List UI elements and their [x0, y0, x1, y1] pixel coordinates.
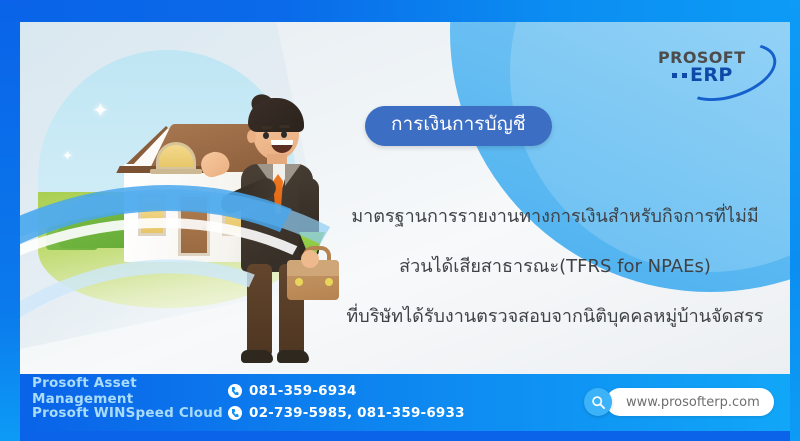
phone-icon	[228, 406, 242, 420]
headline-text: มาตรฐานการรายงานทางการเงินสำหรับกิจการที…	[320, 192, 790, 342]
search-button[interactable]	[584, 388, 612, 416]
eye-left	[263, 132, 269, 139]
contact-list: Prosoft Asset Management 081-359-6934 Pr…	[32, 380, 465, 424]
eyebrow-left	[261, 126, 272, 129]
contact-phone-number: 081-359-6934	[249, 383, 357, 399]
search-icon	[591, 395, 606, 410]
teeth	[271, 140, 293, 145]
logo-dot-icon	[682, 73, 687, 78]
headline-line-1: มาตรฐานการรายงานทางการเงินสำหรับกิจการที…	[320, 192, 790, 242]
contact-product-name: Prosoft Asset Management	[32, 375, 228, 407]
contact-row: Prosoft Asset Management 081-359-6934	[32, 380, 465, 402]
contact-row: Prosoft WINSpeed Cloud 02-739-5985, 081-…	[32, 402, 465, 424]
eye-right	[281, 131, 287, 138]
headline-line-2: ส่วนได้เสียสาธารณะ(TFRS for NPAEs)	[320, 242, 790, 292]
headline-line-3: ที่บริษัทได้รับงานตรวจสอบจากนิติบุคคลหมู…	[320, 292, 790, 342]
contact-phone[interactable]: 081-359-6934	[228, 383, 357, 399]
contact-phone-number: 02-739-5985, 081-359-6933	[249, 405, 465, 421]
top-border	[0, 0, 800, 22]
category-badge[interactable]: การเงินการบัญชี	[365, 106, 552, 146]
sparkle-icon: ✦	[92, 100, 109, 120]
hair	[248, 98, 304, 132]
promotional-banner: ✦ ✦ ✦	[0, 0, 800, 441]
search-input[interactable]: www.prosofterp.com	[606, 388, 774, 416]
window-sill	[150, 169, 202, 174]
contact-phone[interactable]: 02-739-5985, 081-359-6933	[228, 405, 465, 421]
sparkle-icon: ✦	[62, 150, 73, 163]
logo-erp-text: ERP	[690, 64, 733, 86]
left-border	[0, 0, 20, 441]
eyebrow-right	[279, 125, 290, 128]
banner-canvas: ✦ ✦ ✦	[20, 22, 790, 374]
logo-dot-icon	[672, 73, 677, 78]
ear	[247, 130, 256, 143]
right-border	[790, 0, 800, 441]
website-search-box[interactable]: www.prosofterp.com	[584, 388, 774, 416]
phone-icon	[228, 384, 242, 398]
prosoft-erp-logo[interactable]: PROSOFT ERP	[656, 46, 774, 94]
contact-product-name: Prosoft WINSpeed Cloud	[32, 405, 228, 421]
footer-bar: Prosoft Asset Management 081-359-6934 Pr…	[20, 374, 790, 431]
